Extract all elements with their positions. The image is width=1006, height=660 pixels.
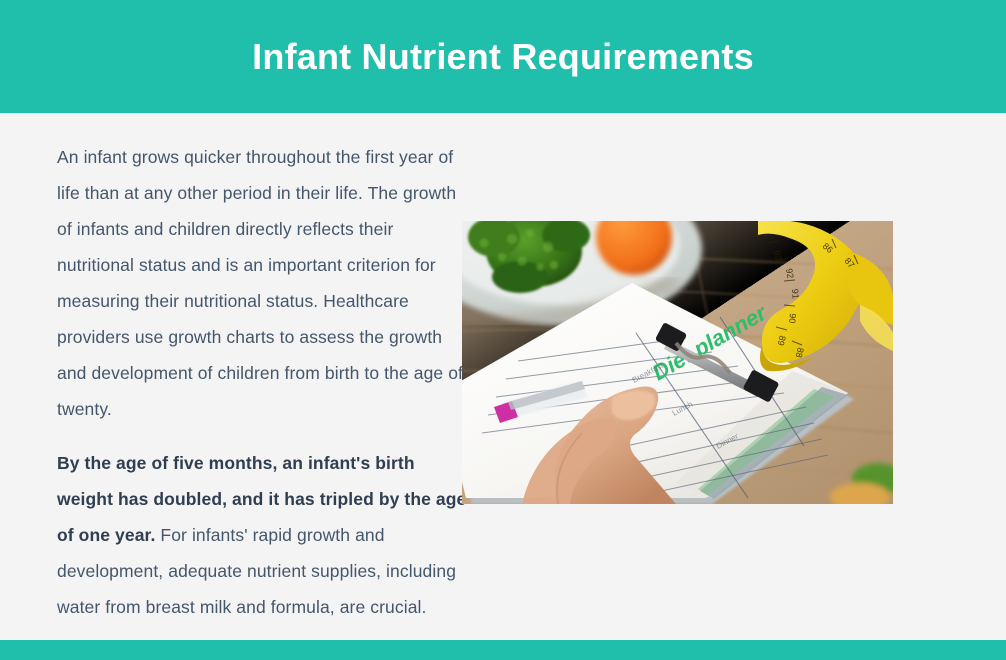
diet-planner-photo: Diet planner Breakfast Lunch Dinner [462,221,893,504]
text-column: An infant grows quicker throughout the f… [57,139,469,625]
footer-accent-bar [0,640,1006,660]
content-area: An infant grows quicker throughout the f… [0,113,1006,640]
svg-text:92: 92 [784,268,796,280]
svg-text:90: 90 [787,313,798,324]
svg-text:91: 91 [790,288,801,299]
header-bar: Infant Nutrient Requirements [0,0,1006,113]
paragraph-1: An infant grows quicker throughout the f… [57,139,469,427]
diet-planner-illustration: Diet planner Breakfast Lunch Dinner [462,221,893,504]
page-title: Infant Nutrient Requirements [252,37,754,77]
slide-root: Infant Nutrient Requirements An infant g… [0,0,1006,660]
paragraph-2: By the age of five months, an infant's b… [57,445,469,625]
